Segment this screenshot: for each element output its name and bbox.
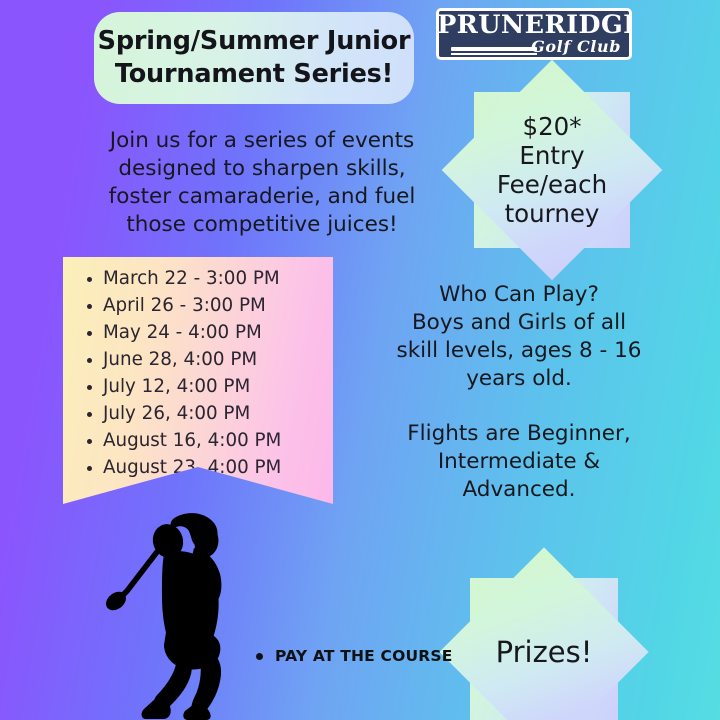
entry-fee-line-1: $20* bbox=[522, 112, 581, 141]
flights-line-1: Flights are Beginner, bbox=[358, 420, 680, 448]
logo-wordmark: PRUNERIDGE bbox=[437, 12, 631, 37]
entry-fee-starburst: $20* Entry Fee/each tourney bbox=[474, 92, 630, 248]
prizes-starburst: Prizes! bbox=[470, 578, 618, 720]
list-item: August 23, 4:00 PM bbox=[103, 455, 333, 482]
entry-fee-line-2: Entry bbox=[519, 141, 584, 170]
logo-script-subtitle: Golf Club bbox=[531, 37, 621, 56]
flights-line-3: Advanced. bbox=[358, 476, 680, 504]
pay-at-course-text: PAY AT THE COURSE bbox=[275, 647, 453, 665]
prizes-text: Prizes! bbox=[496, 635, 593, 670]
list-item: May 24 - 4:00 PM bbox=[103, 320, 333, 347]
poster-title-line-2: Tournament Series! bbox=[115, 58, 393, 91]
intro-paragraph: Join us for a series of events designed … bbox=[92, 127, 432, 239]
bullet-icon bbox=[256, 653, 263, 660]
list-item: April 26 - 3:00 PM bbox=[103, 293, 333, 320]
list-item: July 26, 4:00 PM bbox=[103, 401, 333, 428]
list-item: August 16, 4:00 PM bbox=[103, 428, 333, 455]
logo-rule-thick bbox=[451, 47, 537, 51]
list-item: July 12, 4:00 PM bbox=[103, 374, 333, 401]
poster-canvas: Spring/Summer Junior Tournament Series! … bbox=[0, 0, 720, 720]
logo-rule-thin bbox=[451, 53, 537, 55]
flights-line-2: Intermediate & bbox=[358, 448, 680, 476]
who-can-play-block: Who Can Play? Boys and Girls of all skil… bbox=[358, 281, 680, 504]
list-item: March 22 - 3:00 PM bbox=[103, 266, 333, 293]
poster-title-line-1: Spring/Summer Junior bbox=[98, 25, 411, 58]
golfer-silhouette-icon bbox=[90, 498, 280, 720]
who-can-play-line-4: years old. bbox=[358, 365, 680, 393]
tournament-dates-list: March 22 - 3:00 PM April 26 - 3:00 PM Ma… bbox=[85, 266, 333, 482]
who-can-play-line-2: Boys and Girls of all bbox=[358, 309, 680, 337]
pruneridge-golf-club-logo: PRUNERIDGE Golf Club bbox=[436, 8, 632, 60]
tournament-dates-banner: March 22 - 3:00 PM April 26 - 3:00 PM Ma… bbox=[63, 257, 333, 504]
list-item: June 28, 4:00 PM bbox=[103, 347, 333, 374]
entry-fee-line-4: tourney bbox=[505, 199, 600, 228]
poster-title-box: Spring/Summer Junior Tournament Series! bbox=[94, 12, 414, 104]
pay-at-course-note: PAY AT THE COURSE bbox=[256, 647, 453, 665]
who-can-play-line-3: skill levels, ages 8 - 16 bbox=[358, 337, 680, 365]
prizes-label: Prizes! bbox=[470, 578, 618, 720]
entry-fee-line-3: Fee/each bbox=[497, 170, 607, 199]
who-can-play-heading: Who Can Play? bbox=[358, 281, 680, 309]
entry-fee-label: $20* Entry Fee/each tourney bbox=[474, 92, 630, 248]
